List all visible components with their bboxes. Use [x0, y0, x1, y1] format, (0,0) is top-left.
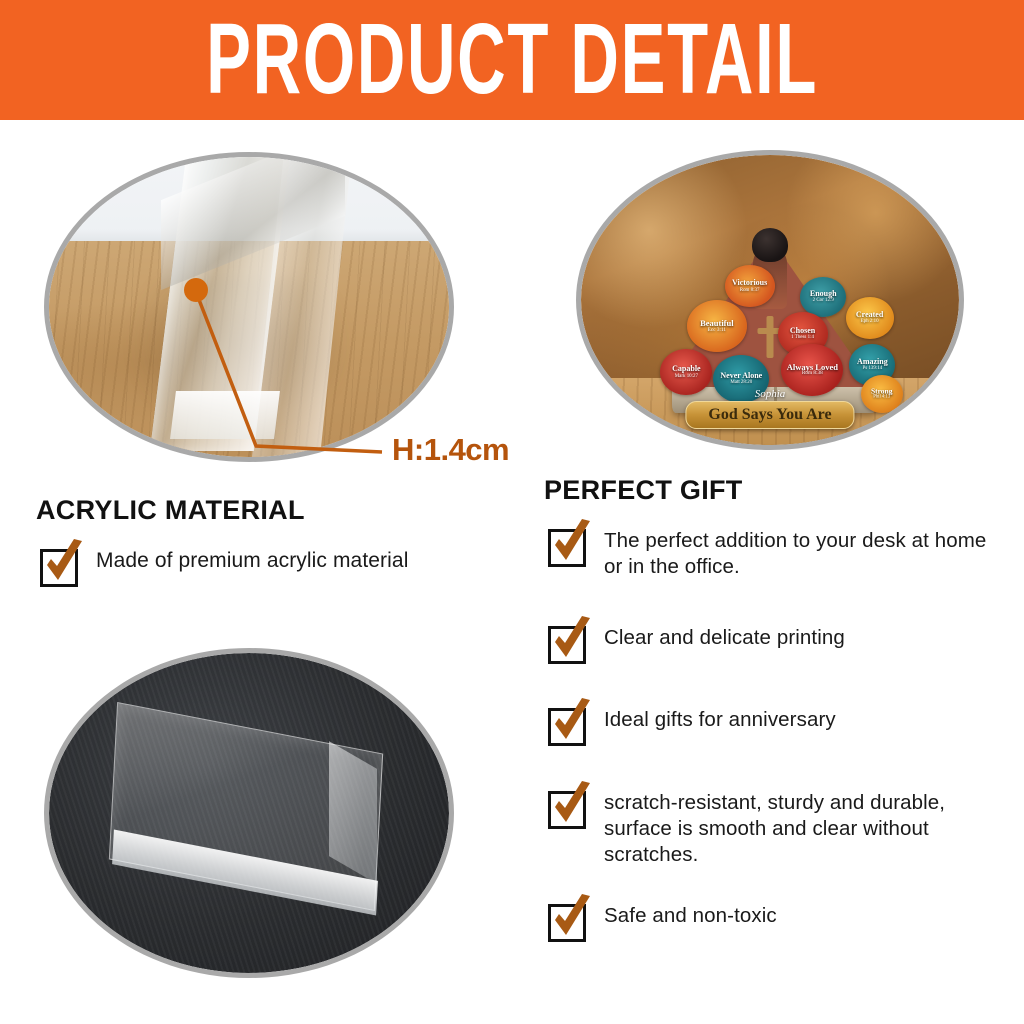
bullet-text: Safe and non-toxic: [604, 903, 777, 929]
checkbox-checked-icon: [548, 529, 586, 567]
photo-acrylic-edge: [44, 152, 454, 462]
photo-acrylic-block: [44, 648, 454, 978]
photo-acrylic-edge-image: [49, 157, 449, 457]
bullet-text: Made of premium acrylic material: [96, 548, 408, 575]
bullet-text: The perfect addition to your desk at hom…: [604, 528, 994, 580]
section-title-acrylic-material: ACRYLIC MATERIAL: [36, 495, 305, 526]
checkbox-checked-icon: [548, 904, 586, 942]
photo-acrylic-block-image: [49, 653, 449, 973]
bullet-item: Ideal gifts for anniversary: [548, 707, 836, 746]
product-banner-text: God Says You Are: [685, 401, 854, 429]
figure-hair: [752, 228, 788, 262]
height-measurement-label: H:1.4cm: [392, 432, 509, 468]
bullet-text: Ideal gifts for anniversary: [604, 707, 836, 733]
photo-product-plaque: Victorious Rom 8:37 Enough 2 Cor 12:9 Be…: [576, 150, 964, 450]
header-banner: PRODUCT DETAIL: [0, 0, 1024, 120]
bullet-item: scratch-resistant, sturdy and durable, s…: [548, 790, 994, 869]
personalized-name: Sophia: [755, 388, 786, 400]
bullet-item: Safe and non-toxic: [548, 903, 777, 942]
product-detail-page: PRODUCT DETAIL H:1.4cm: [0, 0, 1024, 1024]
photo-product-image: Victorious Rom 8:37 Enough 2 Cor 12:9 Be…: [581, 155, 959, 445]
checkbox-checked-icon: [548, 708, 586, 746]
flower-label-enough: Enough 2 Cor 12:9: [800, 277, 846, 317]
checkbox-checked-icon: [40, 549, 78, 587]
bullet-item: Clear and delicate printing: [548, 625, 845, 664]
bullet-item: The perfect addition to your desk at hom…: [548, 528, 994, 580]
bullet-item: Made of premium acrylic material: [40, 548, 408, 587]
bullet-text: Clear and delicate printing: [604, 625, 845, 651]
flower-label-strong: Strong Phil 4:13: [861, 375, 903, 413]
acrylic-slab-base: [170, 391, 280, 439]
bullet-text: scratch-resistant, sturdy and durable, s…: [604, 790, 994, 869]
checkbox-checked-icon: [548, 626, 586, 664]
flower-label-beautiful: Beautiful Ecc 3:11: [687, 300, 747, 352]
cross-ornament: [767, 316, 774, 358]
flower-label-always-loved: Always Loved Rom 8:38: [781, 344, 843, 396]
callout-dot: [184, 278, 208, 302]
section-title-perfect-gift: PERFECT GIFT: [544, 475, 743, 506]
page-title: PRODUCT DETAIL: [206, 10, 818, 110]
flower-label-victorious: Victorious Rom 8:37: [725, 265, 775, 307]
checkbox-checked-icon: [548, 791, 586, 829]
flower-label-created: Created Eph 2:10: [846, 297, 894, 339]
